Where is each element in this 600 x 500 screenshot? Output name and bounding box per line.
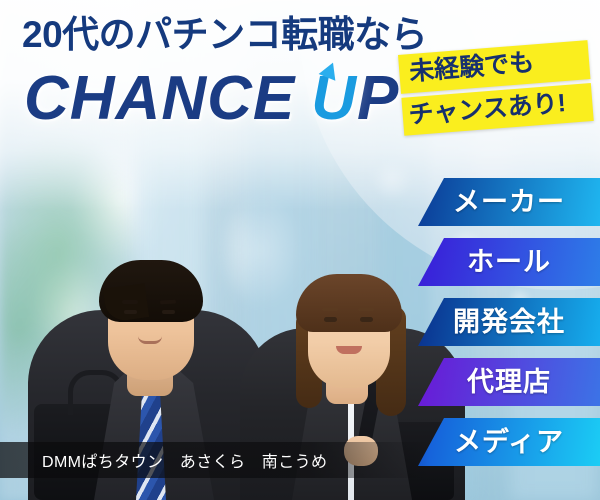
- businessman-hair: [99, 260, 203, 322]
- businessman-eye-right: [162, 310, 175, 314]
- category-button-developer[interactable]: 開発会社: [418, 298, 600, 346]
- businesswoman-hair-top: [296, 274, 402, 332]
- category-label-developer: 開発会社: [453, 309, 565, 336]
- category-label-hall: ホール: [467, 249, 551, 276]
- chance-up-logo: CHANCEUP: [24, 68, 399, 130]
- businesswoman-mouth: [336, 346, 362, 354]
- businesswoman-eye-left: [324, 317, 337, 322]
- credit-text: DMMぱちタウン あさくら 南こうめ: [42, 448, 327, 472]
- logo-letter-p: P: [357, 64, 399, 133]
- credit-bar: DMMぱちタウン あさくら 南こうめ: [0, 442, 430, 478]
- businessman-eyebrow-right: [160, 300, 176, 305]
- category-button-maker[interactable]: メーカー: [418, 178, 600, 226]
- category-button-media[interactable]: メディア: [418, 418, 600, 466]
- experience-badge: 未経験でも チャンスあり!: [398, 40, 594, 136]
- businesswoman-eyebrow-right: [358, 308, 374, 311]
- category-label-agency: 代理店: [467, 369, 551, 396]
- category-button-hall[interactable]: ホール: [418, 238, 600, 286]
- category-label-maker: メーカー: [453, 189, 565, 216]
- category-button-agency[interactable]: 代理店: [418, 358, 600, 406]
- promotional-banner: 20代のパチンコ転職なら CHANCEUP 未経験でも チャンスあり! メーカー…: [0, 0, 600, 500]
- businessman-eyebrow-left: [122, 300, 138, 304]
- logo-letter-u: U: [311, 68, 357, 130]
- headline-text: 20代のパチンコ転職なら: [22, 16, 422, 53]
- businesswoman-eyebrow-left: [322, 308, 338, 311]
- category-label-media: メディア: [454, 429, 564, 456]
- category-list: メーカー ホール 開発会社 代理店 メディア: [418, 178, 600, 478]
- businesswoman-eye-right: [360, 317, 373, 322]
- logo-word-chance: CHANCE: [24, 64, 295, 133]
- businessman-eye-left: [124, 310, 137, 314]
